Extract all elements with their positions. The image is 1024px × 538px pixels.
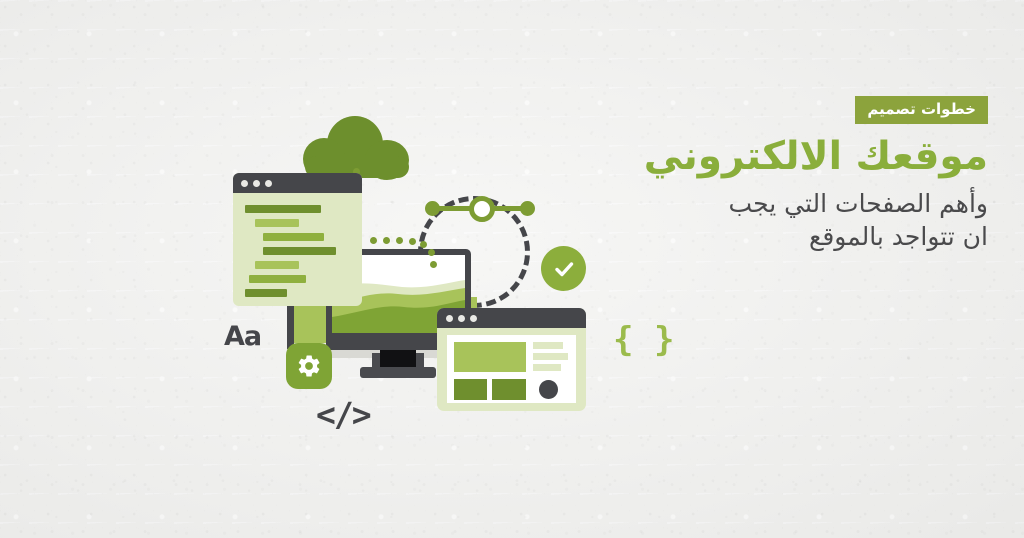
code-line	[255, 219, 299, 227]
monitor-foot	[360, 367, 436, 378]
site-hero-block	[454, 342, 526, 372]
site-page-content	[447, 335, 576, 403]
code-line	[245, 205, 321, 213]
window-dot-icon	[253, 180, 260, 187]
check-circle-icon	[541, 246, 586, 291]
window-dot-icon	[470, 315, 477, 322]
window-dot-icon	[458, 315, 465, 322]
window-dot-icon	[265, 180, 272, 187]
illustration-group: Aa </> { }	[0, 0, 700, 538]
code-line	[245, 289, 287, 297]
headline-text-block: خطوات تصميم موقعك الالكتروني وأهم الصفحا…	[468, 96, 988, 253]
page-title: موقعك الالكتروني	[468, 133, 988, 181]
code-line	[255, 261, 299, 269]
gear-icon	[286, 343, 332, 389]
website-layout-window	[437, 308, 586, 411]
code-window-titlebar	[233, 173, 362, 193]
category-badge: خطوات تصميم	[855, 96, 988, 124]
monitor-neck	[380, 350, 416, 367]
code-line	[263, 233, 324, 241]
site-card-right	[492, 379, 526, 400]
window-dot-icon	[241, 180, 248, 187]
code-editor-window	[233, 173, 362, 306]
site-side-line	[533, 353, 568, 360]
subtitle-line-2: ان تتواجد بالموقع	[468, 220, 988, 253]
subtitle: وأهم الصفحات التي يجب ان تتواجد بالموقع	[468, 187, 988, 253]
site-window-titlebar	[437, 308, 586, 328]
site-side-line	[533, 364, 561, 371]
subtitle-line-1: وأهم الصفحات التي يجب	[729, 189, 988, 218]
window-dot-icon	[446, 315, 453, 322]
code-line	[263, 247, 336, 255]
banner-canvas: Aa </> { } خطوات تصميم موقعك الالكتروني …	[0, 0, 1024, 538]
code-line	[249, 275, 306, 283]
site-card-left	[454, 379, 487, 400]
site-side-line	[533, 342, 563, 349]
code-tag-glyph: </>	[316, 395, 370, 434]
node-endpoint-dot	[425, 201, 440, 216]
site-avatar-dot	[539, 380, 558, 399]
braces-glyph: { }	[613, 320, 674, 360]
typography-glyph: Aa	[224, 321, 261, 352]
